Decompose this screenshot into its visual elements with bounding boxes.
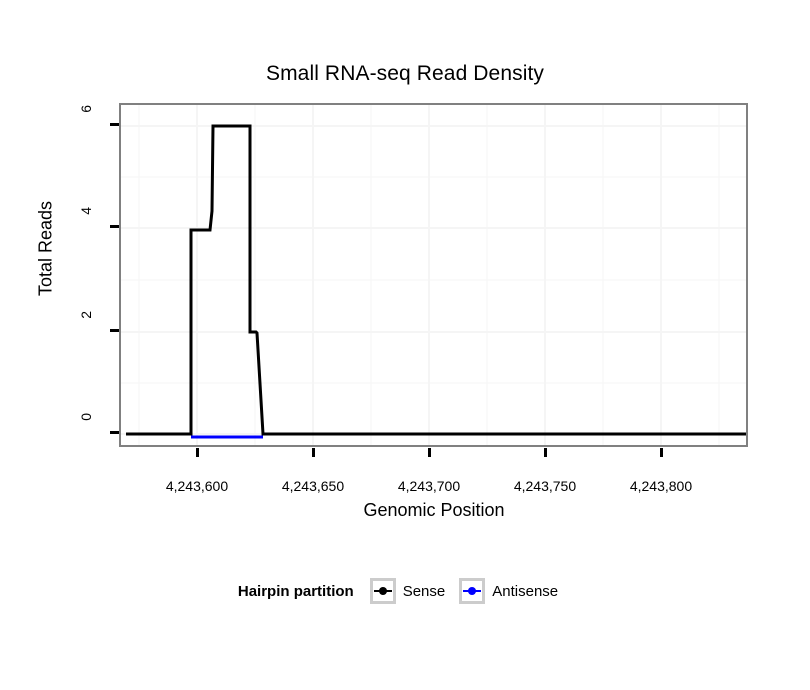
- y-tick-mark-4: [110, 225, 119, 228]
- x-tick-mark-2: [312, 448, 315, 457]
- legend-title: Hairpin partition: [238, 583, 354, 600]
- x-tick-mark-4: [544, 448, 547, 457]
- legend-label-sense: Sense: [403, 583, 446, 600]
- gridlines: [121, 105, 746, 445]
- x-tick-mark-1: [196, 448, 199, 457]
- y-tick-label-6: 6: [78, 105, 94, 145]
- y-tick-mark-2: [110, 329, 119, 332]
- legend-item-antisense[interactable]: Antisense: [459, 578, 558, 604]
- chart-figure: Small RNA-seq Read Density Total Reads 6…: [0, 0, 810, 690]
- y-axis-title: Total Reads: [36, 169, 57, 329]
- legend-key-antisense-icon: [459, 578, 485, 604]
- legend-label-antisense: Antisense: [492, 583, 558, 600]
- page-title: Small RNA-seq Read Density: [0, 62, 810, 86]
- legend-item-sense[interactable]: Sense: [370, 578, 446, 604]
- y-tick-label-4: 4: [78, 207, 94, 247]
- y-tick-mark-6: [110, 123, 119, 126]
- x-tick-mark-3: [428, 448, 431, 457]
- x-tick-label-5: 4,243,800: [591, 478, 731, 494]
- plot-panel: [119, 103, 748, 447]
- y-tick-label-0: 0: [78, 413, 94, 453]
- x-tick-mark-5: [660, 448, 663, 457]
- legend-key-sense-icon: [370, 578, 396, 604]
- plot-area: [121, 105, 746, 445]
- y-tick-mark-0: [110, 431, 119, 434]
- legend: Hairpin partition Sense Antisense: [0, 578, 810, 604]
- x-axis-title: Genomic Position: [119, 500, 749, 521]
- y-tick-label-2: 2: [78, 311, 94, 351]
